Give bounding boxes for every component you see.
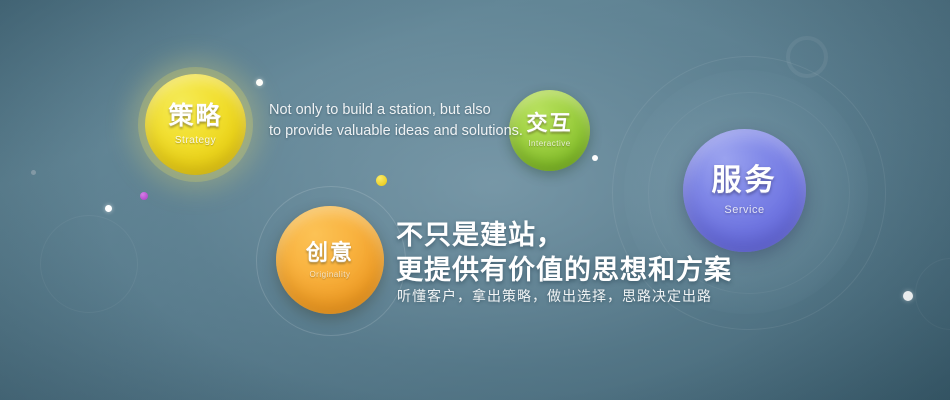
gray-dot-left [31, 170, 36, 175]
english-tagline: Not only to build a station, but also to… [269, 100, 509, 142]
english-tagline-line1: Not only to build a station, but also [269, 100, 509, 121]
decor-ring-left [40, 215, 138, 313]
purple-dot [140, 192, 148, 200]
yellow-dot-center [376, 175, 387, 186]
white-dot-upper-left [105, 205, 112, 212]
white-dot-far-right [903, 291, 913, 301]
page-title-line1: 不只是建站， [396, 218, 732, 253]
bubble-service-cn: 服务 [712, 166, 778, 196]
bubble-originality-cn: 创意 [306, 242, 354, 264]
bubble-interactive-cn: 交互 [527, 113, 573, 134]
page-title-line2: 更提供有价值的思想和方案 [396, 253, 732, 288]
bubble-service-en: Service [724, 205, 764, 216]
bubble-strategy-en: Strategy [175, 136, 216, 146]
white-dot-mid-right [592, 155, 598, 161]
bubble-strategy-cn: 策略 [168, 104, 222, 129]
bubble-originality[interactable]: 创意 Originality [276, 206, 384, 314]
white-dot-top [256, 79, 263, 86]
page-subtitle: 听懂客户，拿出策略，做出选择，思路决定出路 [397, 286, 712, 306]
bubble-interactive-en: Interactive [528, 140, 570, 148]
hero-banner: 策略 Strategy 交互 Interactive 创意 Originalit… [0, 0, 950, 400]
decor-ring-far-right [915, 258, 950, 330]
bubble-strategy[interactable]: 策略 Strategy [145, 74, 246, 175]
page-title: 不只是建站， 更提供有价值的思想和方案 [396, 218, 732, 288]
bubble-originality-en: Originality [309, 271, 350, 279]
english-tagline-line2: to provide valuable ideas and solutions. [269, 121, 509, 142]
